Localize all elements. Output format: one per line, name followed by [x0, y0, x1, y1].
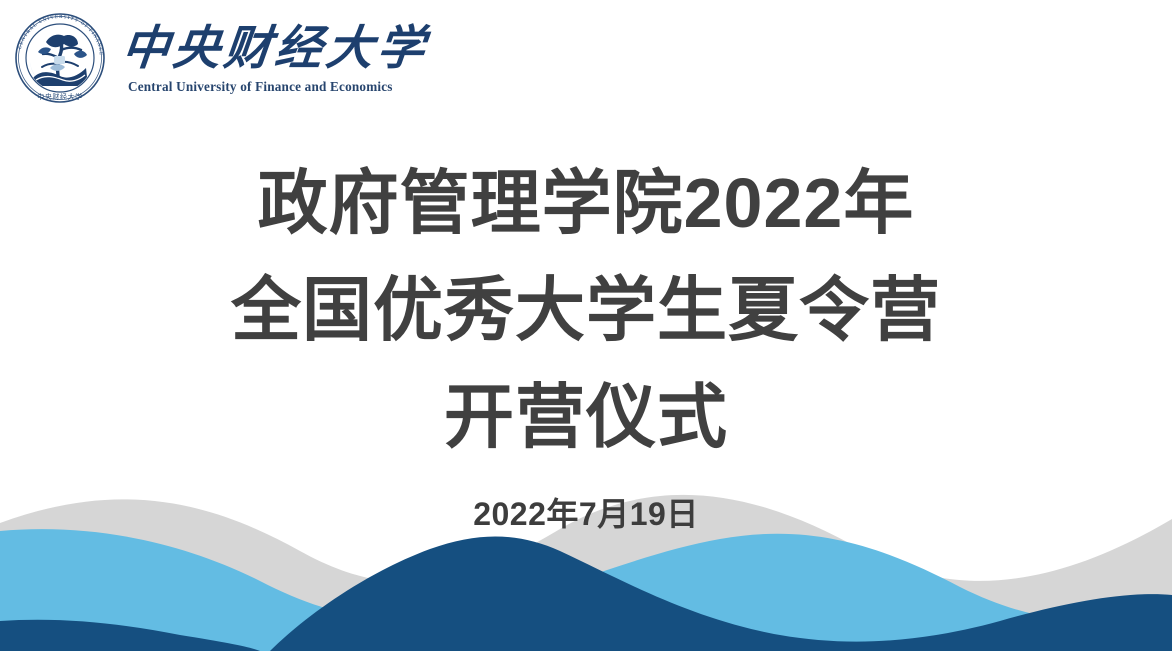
university-name-cn: 中央财经大学	[119, 23, 431, 76]
university-seal-icon: CENTRAL UNIVERSITY OF FINANCE AND ECONOM…	[8, 6, 112, 110]
university-name-en: Central University of Finance and Econom…	[128, 79, 428, 95]
svg-text:中央财经大学: 中央财经大学	[37, 92, 83, 101]
slide-date: 2022年7月19日	[0, 489, 1172, 535]
title-line-1: 政府管理学院2022年	[0, 150, 1172, 257]
title-line-3: 开营仪式	[0, 364, 1172, 471]
title-line-2: 全国优秀大学生夏令营	[0, 257, 1172, 364]
presentation-slide: CENTRAL UNIVERSITY OF FINANCE AND ECONOM…	[0, 0, 1172, 651]
university-wordmark: 中央财经大学 Central University of Finance and…	[122, 21, 428, 95]
slide-title: 政府管理学院2022年 全国优秀大学生夏令营 开营仪式	[0, 150, 1172, 471]
university-logo-lockup: CENTRAL UNIVERSITY OF FINANCE AND ECONOM…	[8, 6, 428, 110]
